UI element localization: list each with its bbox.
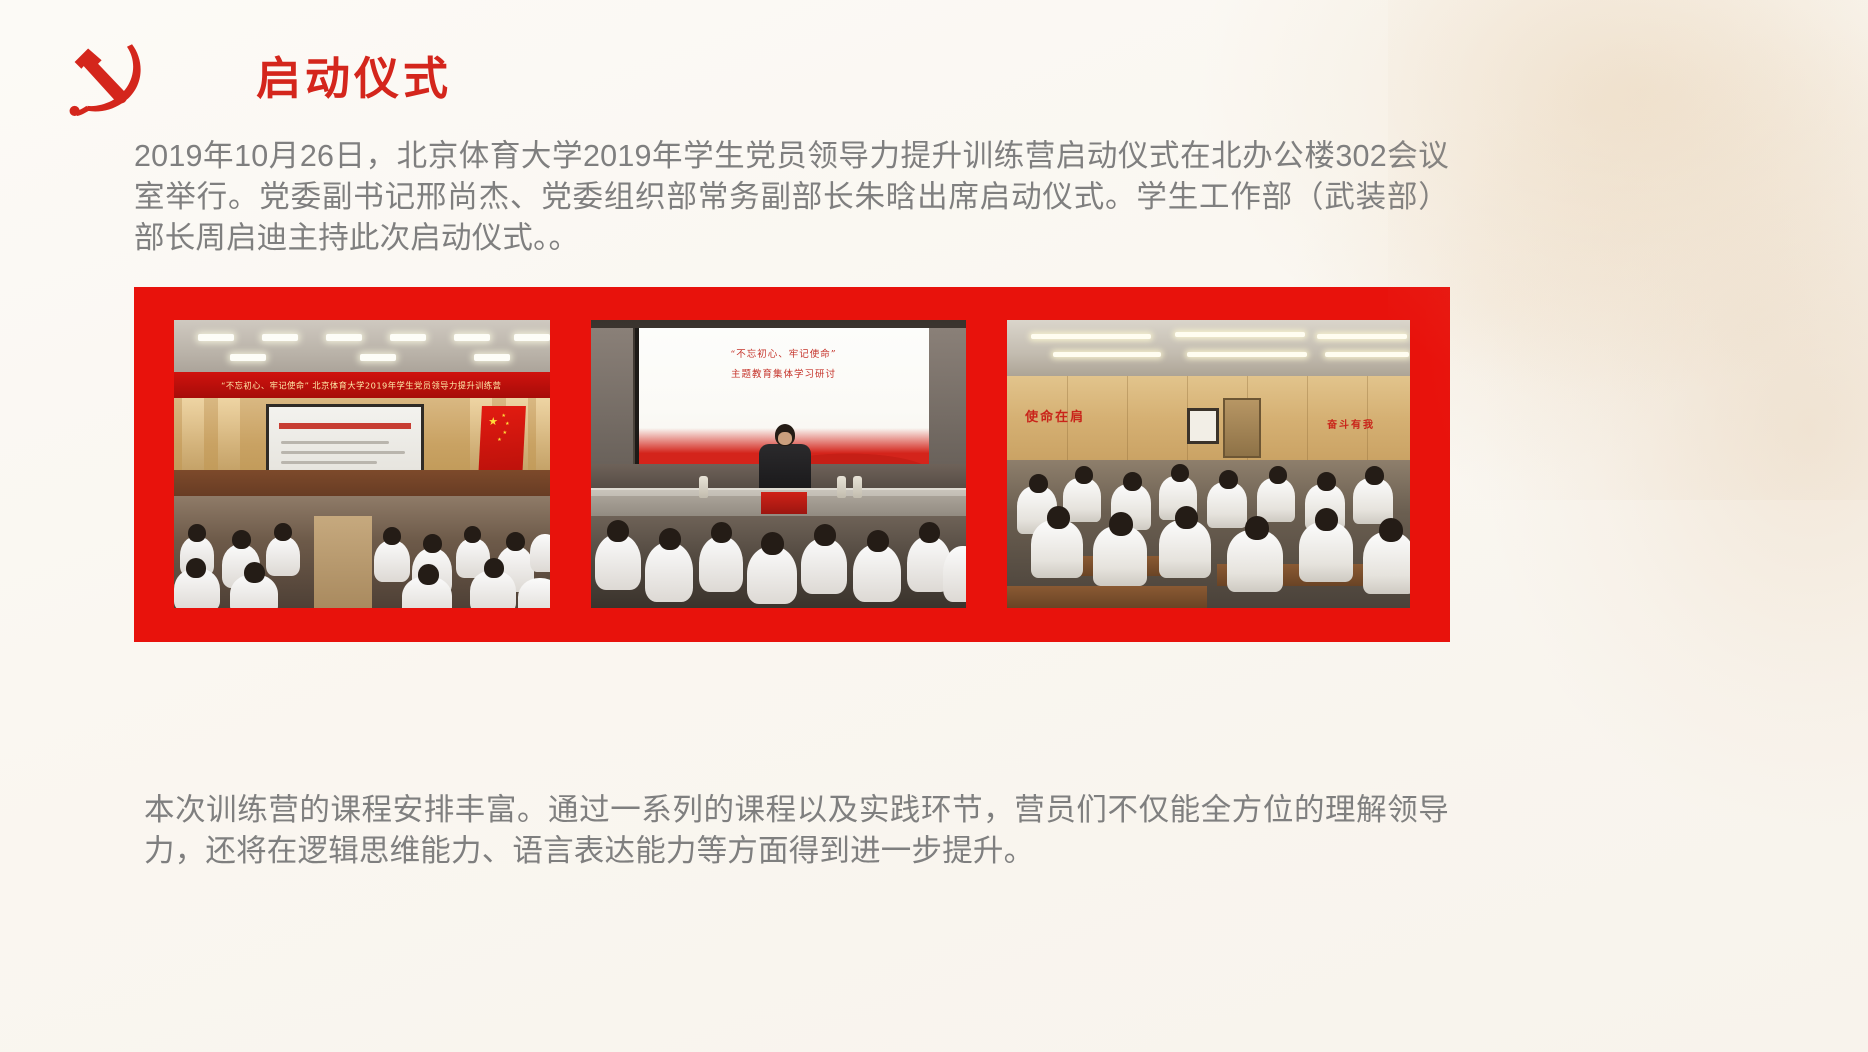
cpc-hammer-sickle-emblem: [62, 40, 148, 116]
photo3-wall-text-right: 奋斗有我: [1327, 416, 1375, 431]
photo2-screen-line-1: “不忘初心、牢记使命”: [639, 346, 929, 360]
photo2-table-cloth: [761, 492, 807, 514]
closing-paragraph: 本次训练营的课程安排丰富。通过一系列的课程以及实践环节，营员们不仅能全方位的理解…: [144, 790, 1449, 872]
photo1-national-flag: ★ ★ ★ ★ ★: [478, 406, 526, 480]
page-title: 启动仪式: [256, 56, 452, 101]
photo-gallery-red-frame: “不忘初心、牢记使命” 北京体育大学2019年学生党员领导力提升训练营 ★ ★ …: [134, 287, 1450, 642]
slide-canvas: 启动仪式 2019年10月26日，北京体育大学2019年学生党员领导力提升训练营…: [0, 0, 1868, 1052]
photo1-red-banner: “不忘初心、牢记使命” 北京体育大学2019年学生党员领导力提升训练营: [174, 372, 550, 398]
gallery-photo-1[interactable]: “不忘初心、牢记使命” 北京体育大学2019年学生党员领导力提升训练营 ★ ★ …: [174, 320, 550, 608]
photo3-audience: [1007, 460, 1410, 608]
intro-paragraph: 2019年10月26日，北京体育大学2019年学生党员领导力提升训练营启动仪式在…: [134, 136, 1449, 259]
photo2-left-panel: [591, 328, 633, 464]
photo2-screen-line-2: 主题教育集体学习研讨: [639, 366, 929, 380]
photo3-ceiling: [1007, 320, 1410, 376]
slide-header: 启动仪式: [62, 38, 452, 118]
gallery-photo-2[interactable]: “不忘初心、牢记使命” 主题教育集体学习研讨: [591, 320, 967, 608]
photo3-door: [1223, 398, 1261, 458]
photo1-banner-text: “不忘初心、牢记使命” 北京体育大学2019年学生党员领导力提升训练营: [222, 379, 502, 391]
photo2-speaker: [759, 424, 811, 488]
photo2-audience: [591, 516, 967, 608]
photo1-audience: [174, 496, 550, 608]
gallery-photo-3[interactable]: 使命在肩 奋斗有我: [1007, 320, 1410, 608]
photo3-wall-text-left: 使命在肩: [1025, 406, 1085, 425]
photo3-wall-frame: [1187, 408, 1219, 444]
